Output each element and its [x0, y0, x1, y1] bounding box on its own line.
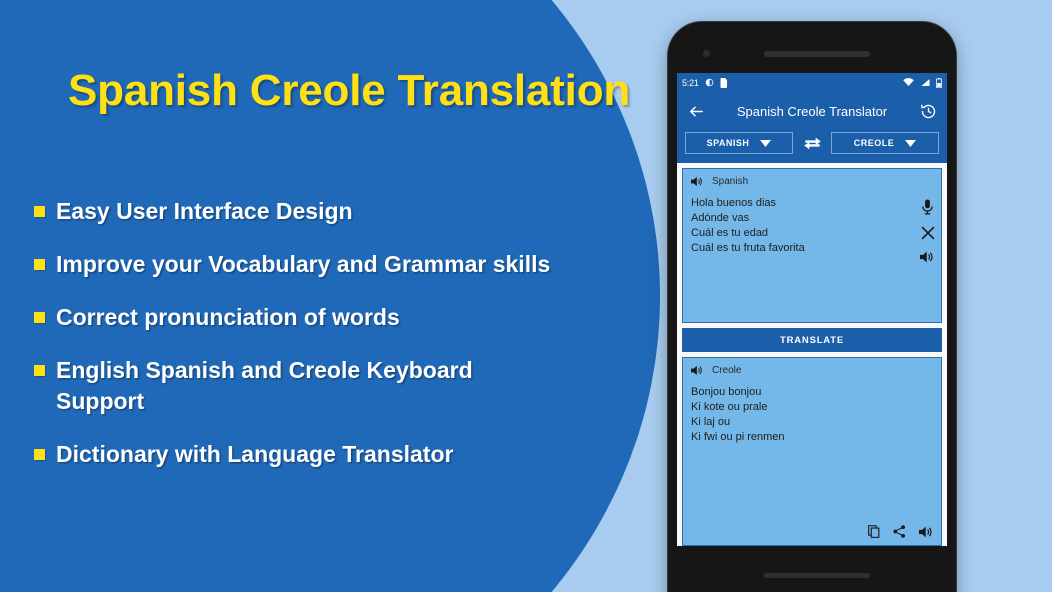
app-title: Spanish Creole Translator [707, 104, 917, 119]
earpiece-speaker [764, 51, 870, 57]
bullet-square-icon [34, 259, 45, 270]
speaker-icon[interactable] [919, 526, 934, 538]
feature-list: Easy User Interface Design Improve your … [34, 196, 634, 492]
source-language-dropdown[interactable]: SPANISH [685, 132, 793, 154]
target-text: Bonjou bonjou Ki kote ou prale Ki laj ou… [691, 385, 933, 444]
signal-icon [920, 78, 930, 87]
swap-horizontal-icon [803, 136, 822, 151]
feature-text: Improve your Vocabulary and Grammar skil… [56, 249, 550, 280]
back-arrow-icon[interactable] [685, 100, 707, 122]
status-time: 5:21 [682, 78, 699, 88]
feature-text: Easy User Interface Design [56, 196, 353, 227]
alarm-icon [705, 78, 714, 87]
target-language-label: CREOLE [854, 138, 895, 148]
bullet-square-icon [34, 312, 45, 323]
chevron-down-icon [760, 140, 771, 147]
feature-text: Correct pronunciation of words [56, 302, 400, 333]
history-icon[interactable] [917, 100, 939, 122]
promo-panel: Spanish Creole Translation Easy User Int… [0, 0, 660, 592]
translate-button[interactable]: TRANSLATE [682, 328, 942, 352]
page-title: Spanish Creole Translation [68, 66, 630, 116]
bottom-speaker [764, 573, 870, 578]
wifi-icon [903, 78, 914, 87]
swap-languages-button[interactable] [793, 136, 831, 151]
speaker-icon[interactable] [691, 176, 704, 187]
share-icon[interactable] [893, 525, 906, 538]
target-language-dropdown[interactable]: CREOLE [831, 132, 939, 154]
list-item: Dictionary with Language Translator [34, 439, 634, 470]
source-text-panel[interactable]: Spanish Hola buenos dias Adónde vas Cuál… [682, 168, 942, 323]
status-bar: 5:21 [677, 73, 947, 92]
source-panel-actions [920, 199, 935, 263]
source-panel-header: Spanish [691, 176, 933, 187]
list-item: English Spanish and Creole Keyboard Supp… [34, 355, 634, 417]
source-text[interactable]: Hola buenos dias Adónde vas Cuál es tu e… [691, 196, 933, 255]
target-panel-language: Creole [712, 365, 741, 376]
bullet-square-icon [34, 449, 45, 460]
chevron-down-icon [905, 140, 916, 147]
list-item: Correct pronunciation of words [34, 302, 634, 333]
list-item: Easy User Interface Design [34, 196, 634, 227]
bullet-square-icon [34, 206, 45, 217]
target-text-panel[interactable]: Creole Bonjou bonjou Ki kote ou prale Ki… [682, 357, 942, 546]
close-icon[interactable] [921, 226, 935, 240]
target-panel-header: Creole [691, 365, 933, 376]
phone-mockup: 5:21 Spanish Creol [668, 22, 956, 592]
battery-icon [936, 78, 942, 88]
speaker-icon[interactable] [691, 365, 704, 376]
app-bar: Spanish Creole Translator SPANISH [677, 92, 947, 163]
translator-body: Spanish Hola buenos dias Adónde vas Cuál… [677, 163, 947, 546]
source-panel-language: Spanish [712, 176, 748, 187]
speaker-icon[interactable] [920, 251, 935, 263]
target-panel-actions [868, 525, 934, 538]
language-selector-row: SPANISH CREOLE [685, 132, 939, 154]
microphone-icon[interactable] [921, 199, 934, 215]
feature-text: English Spanish and Creole Keyboard Supp… [56, 355, 473, 417]
source-language-label: SPANISH [707, 138, 750, 148]
front-camera-icon [702, 49, 711, 58]
list-item: Improve your Vocabulary and Grammar skil… [34, 249, 634, 280]
bullet-square-icon [34, 365, 45, 376]
phone-screen: 5:21 Spanish Creol [677, 73, 947, 546]
feature-text: Dictionary with Language Translator [56, 439, 453, 470]
sd-card-icon [720, 78, 728, 88]
copy-icon[interactable] [868, 525, 880, 538]
